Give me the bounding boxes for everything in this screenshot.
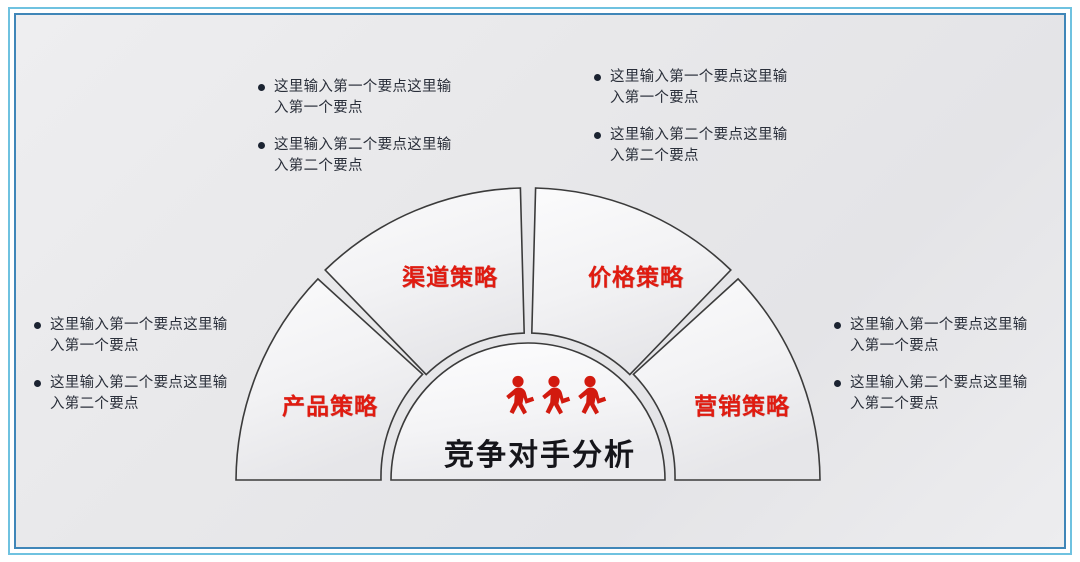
list-item[interactable]: 这里输入第一个要点这里输入第一个要点 [34,315,232,356]
list-item[interactable]: 这里输入第一个要点这里输入第一个要点 [834,315,1032,356]
bullet-dot-icon [258,142,265,149]
diagram-center-title: 竞争对手分析 [16,430,1064,474]
bullet-dot-icon [594,74,601,81]
list-item[interactable]: 这里输入第二个要点这里输入第二个要点 [594,125,792,166]
bullet-text: 这里输入第一个要点这里输入第一个要点 [610,67,792,108]
bullet-text: 这里输入第一个要点这里输入第一个要点 [274,77,456,118]
list-item[interactable]: 这里输入第二个要点这里输入第二个要点 [834,373,1032,414]
bullet-text: 这里输入第二个要点这里输入第二个要点 [274,135,456,176]
bullet-text: 这里输入第二个要点这里输入第二个要点 [610,125,792,166]
bullet-group-middle-right: 这里输入第一个要点这里输入第一个要点 这里输入第二个要点这里输入第二个要点 [834,315,1032,431]
bullet-group-top-right: 这里输入第一个要点这里输入第一个要点 这里输入第二个要点这里输入第二个要点 [594,67,792,183]
bullet-dot-icon [834,322,841,329]
bullet-dot-icon [258,84,265,91]
list-item[interactable]: 这里输入第二个要点这里输入第二个要点 [258,135,456,176]
bullet-group-middle-left: 这里输入第一个要点这里输入第一个要点 这里输入第二个要点这里输入第二个要点 [34,315,232,431]
segment-label-price[interactable]: 价格策略 [588,258,684,292]
bullet-text: 这里输入第一个要点这里输入第一个要点 [850,315,1032,356]
bullet-dot-icon [34,322,41,329]
segment-label-marketing[interactable]: 营销策略 [694,387,790,421]
bullet-text: 这里输入第一个要点这里输入第一个要点 [50,315,232,356]
bullet-text: 这里输入第二个要点这里输入第二个要点 [850,373,1032,414]
segment-label-channel[interactable]: 渠道策略 [402,258,498,292]
bullet-dot-icon [834,380,841,387]
list-item[interactable]: 这里输入第二个要点这里输入第二个要点 [34,373,232,414]
segment-label-product[interactable]: 产品策略 [282,387,378,421]
bullet-dot-icon [34,380,41,387]
three-running-people-icon [500,373,612,425]
slide-canvas: 渠道策略 价格策略 产品策略 营销策略 竞争对手分析 这里输入第一个要点这里输入… [0,0,1080,562]
bullet-group-top-left: 这里输入第一个要点这里输入第一个要点 这里输入第二个要点这里输入第二个要点 [258,77,456,193]
bullet-dot-icon [594,132,601,139]
list-item[interactable]: 这里输入第一个要点这里输入第一个要点 [258,77,456,118]
slide-content-area: 渠道策略 价格策略 产品策略 营销策略 竞争对手分析 这里输入第一个要点这里输入… [16,15,1064,547]
bullet-text: 这里输入第二个要点这里输入第二个要点 [50,373,232,414]
list-item[interactable]: 这里输入第一个要点这里输入第一个要点 [594,67,792,108]
